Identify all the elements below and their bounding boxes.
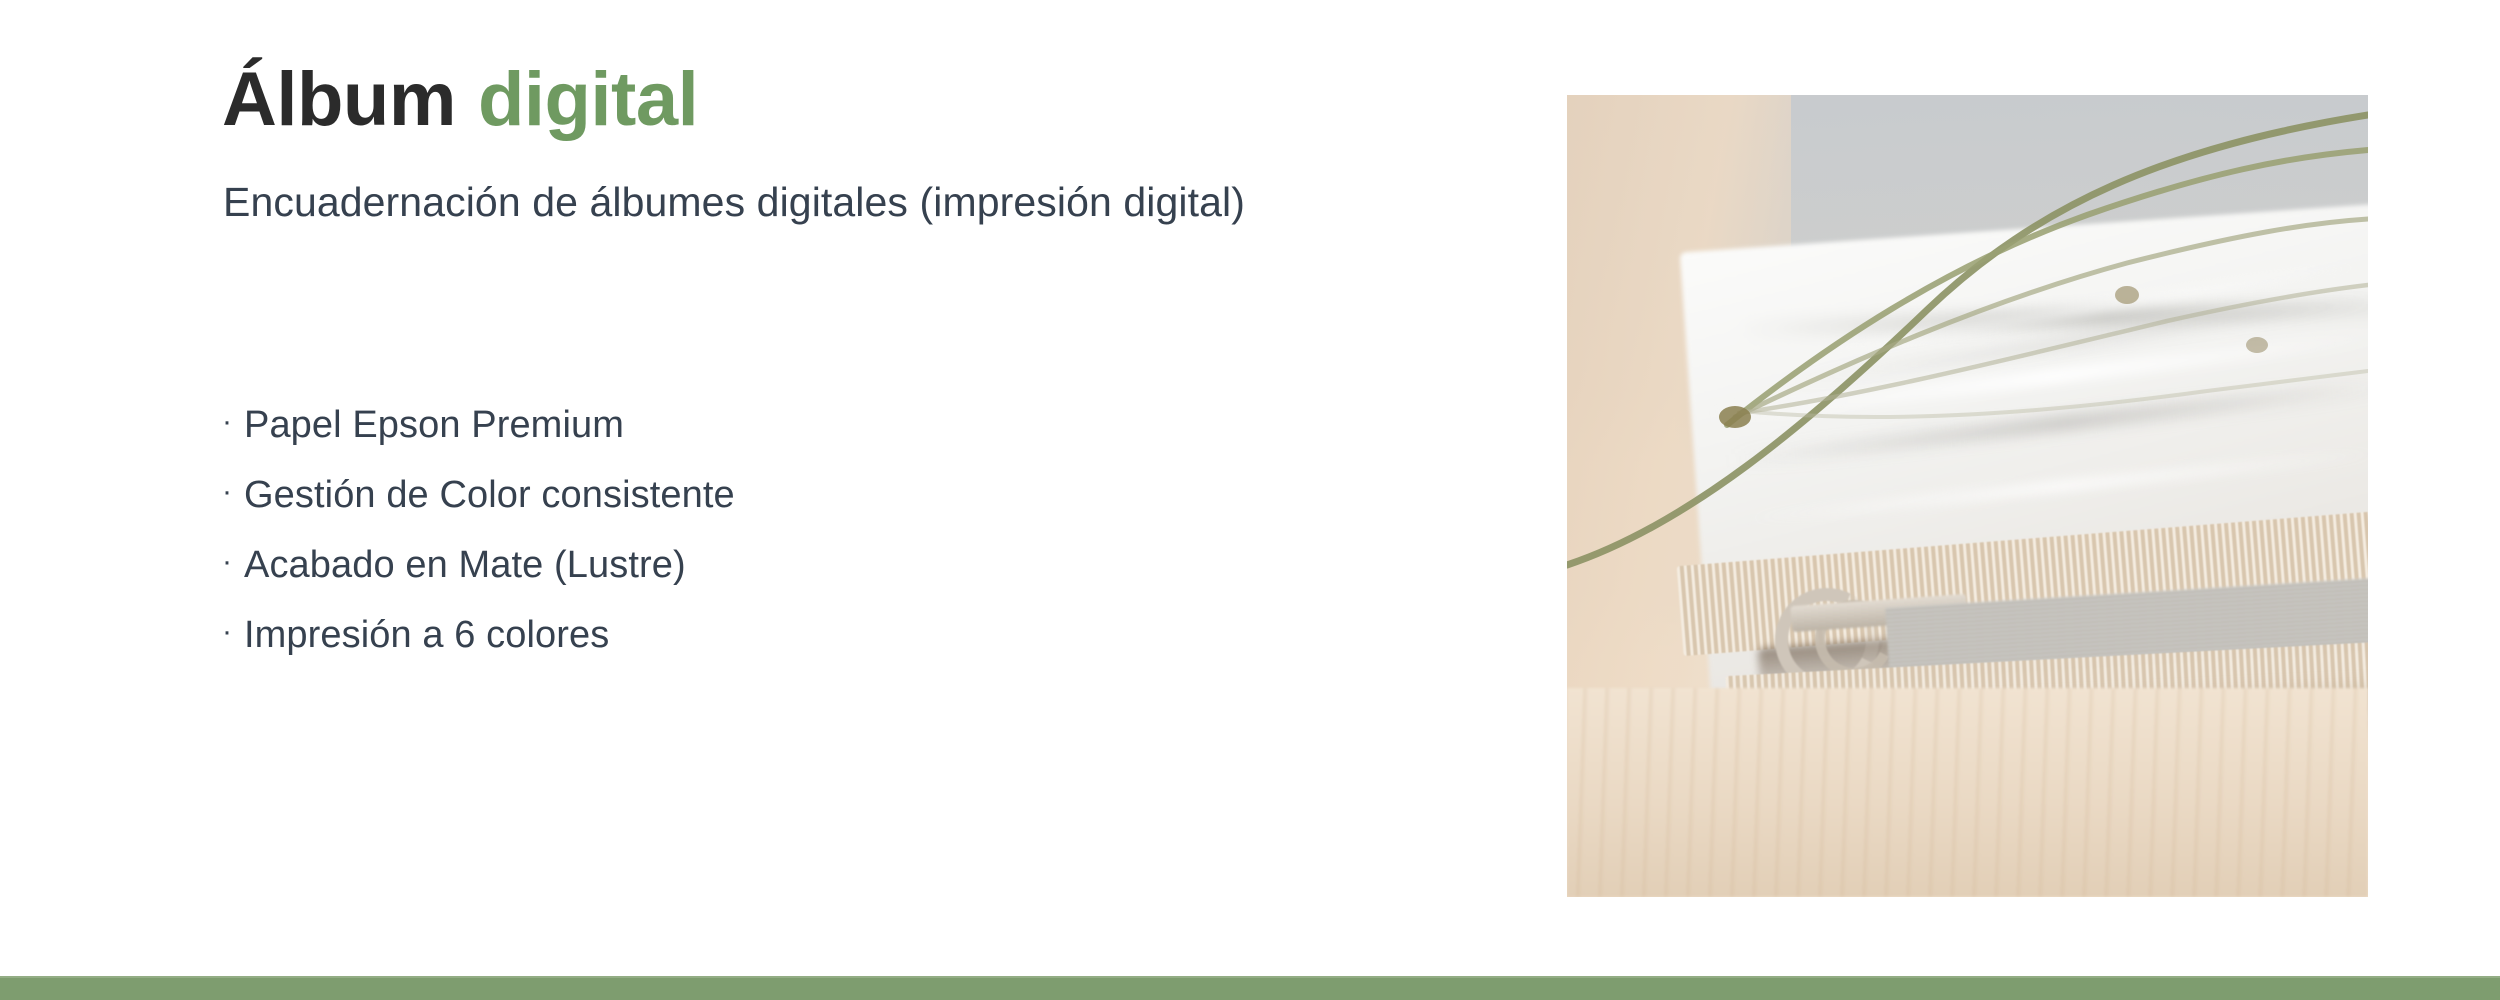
bullet-dot-icon: · (222, 617, 244, 647)
title-main-text: Álbum (222, 57, 456, 142)
list-item: · Papel Epson Premium (222, 390, 735, 460)
feature-list: · Papel Epson Premium · Gestión de Color… (222, 390, 735, 670)
list-item: · Acabado en Mate (Lustre) (222, 530, 735, 600)
list-item-label: Gestión de Color consistente (244, 476, 735, 514)
title-line: Álbumdigital (222, 62, 698, 138)
bullet-dot-icon: · (222, 407, 244, 437)
bullet-dot-icon: · (222, 477, 244, 507)
list-item-label: Papel Epson Premium (244, 406, 624, 444)
list-item: · Gestión de Color consistente (222, 460, 735, 530)
bullet-dot-icon: · (222, 547, 244, 577)
page-title: Álbumdigital (222, 62, 698, 138)
footer-accent-bar (0, 978, 2500, 1000)
title-accent-text: digital (478, 57, 698, 142)
photo-canvas (1567, 95, 2368, 897)
list-item: · Impresión a 6 colores (222, 600, 735, 670)
list-item-label: Acabado en Mate (Lustre) (244, 546, 686, 584)
product-photo (1567, 95, 2368, 897)
list-item-label: Impresión a 6 colores (244, 616, 609, 654)
wood-table-surface (1567, 688, 2368, 897)
content-column: Álbumdigital Encuadernación de álbumes d… (222, 0, 1502, 1000)
page-subtitle: Encuadernación de álbumes digitales (imp… (223, 178, 1245, 227)
slide-canvas: Álbumdigital Encuadernación de álbumes d… (0, 0, 2500, 1000)
